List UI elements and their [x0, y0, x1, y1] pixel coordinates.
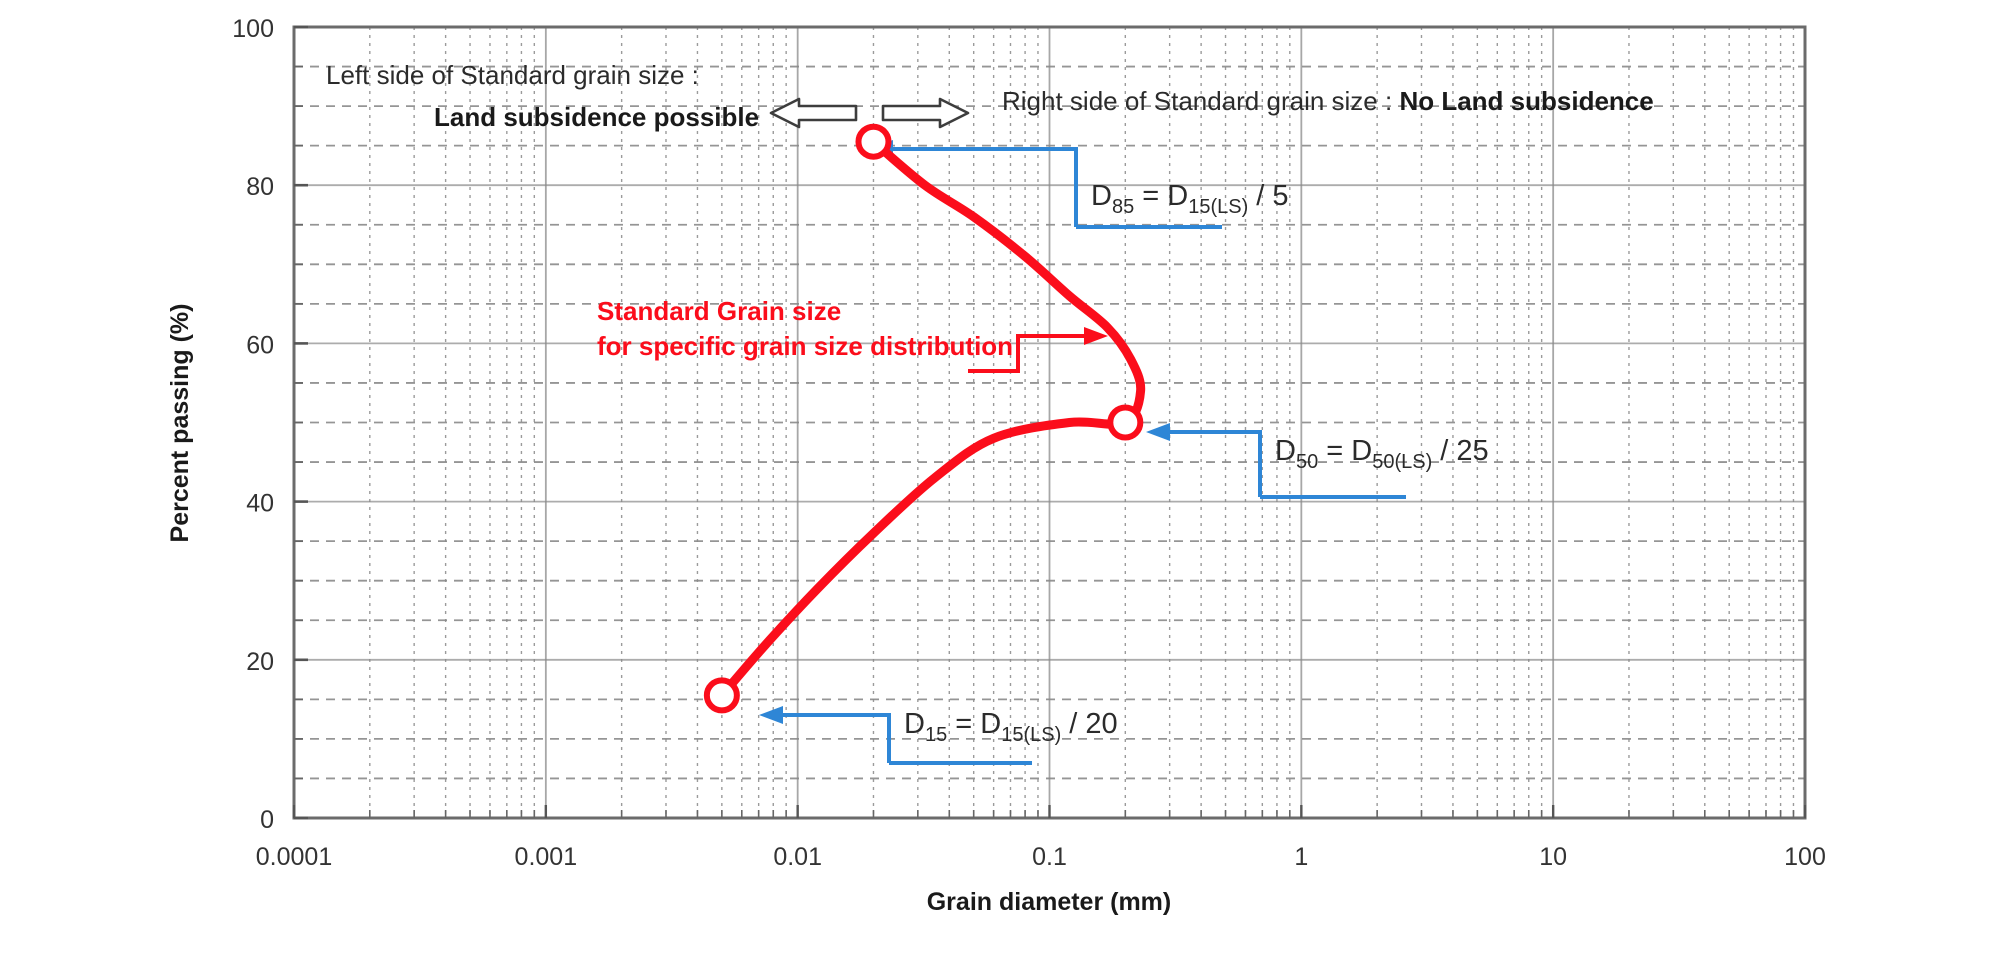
d85-rhs-sub: 15(LS)	[1188, 196, 1248, 218]
right-side-note-prefix: Right side of Standard grain size :	[1002, 86, 1399, 116]
d15-divisor: / 20	[1061, 708, 1117, 740]
y-tick-label: 20	[246, 648, 274, 676]
y-axis-label: Percent passing (%)	[166, 304, 194, 543]
y-tick-label: 0	[260, 806, 274, 834]
marker-d85	[858, 127, 888, 157]
d85-lhs-sub: 85	[1112, 196, 1134, 218]
y-tick-label: 40	[246, 490, 274, 518]
d50-divisor: / 25	[1432, 435, 1488, 467]
left-side-note-line2: Land subsidence possible	[434, 102, 759, 132]
d85-rhs: D	[1167, 180, 1188, 212]
x-tick-label: 10	[1539, 843, 1567, 871]
grain-size-distribution-chart: 0.00010.0010.010.1110100 020406080100 Gr…	[0, 0, 2008, 953]
d85-eq: =	[1134, 180, 1167, 212]
standard-grain-note-line2: for specific grain size distribution	[597, 331, 1013, 361]
d15-lhs-sub: 15	[925, 724, 947, 746]
d15-eq: =	[947, 708, 980, 740]
d85-divisor: / 5	[1248, 180, 1288, 212]
x-tick-label: 100	[1784, 843, 1826, 871]
marker-d15	[707, 680, 737, 710]
x-tick-label: 0.0001	[256, 843, 332, 871]
x-tick-label: 1	[1294, 843, 1308, 871]
right-side-note: Right side of Standard grain size : No L…	[1002, 86, 1654, 116]
d50-rhs: D	[1351, 435, 1372, 467]
d50-lhs: D	[1275, 435, 1296, 467]
y-tick-label: 60	[246, 331, 274, 359]
right-side-note-bold: No Land subsidence	[1399, 86, 1653, 116]
x-tick-label: 0.1	[1032, 843, 1067, 871]
d50-eq: =	[1318, 435, 1351, 467]
marker-d50	[1110, 408, 1140, 438]
x-axis-label: Grain diameter (mm)	[927, 888, 1172, 916]
x-tick-label: 0.01	[773, 843, 822, 871]
d15-rhs: D	[980, 708, 1001, 740]
standard-grain-note-line1: Standard Grain size	[597, 296, 841, 326]
d15-rhs-sub: 15(LS)	[1001, 724, 1061, 746]
d85-lhs: D	[1091, 180, 1112, 212]
y-tick-label: 80	[246, 173, 274, 201]
d15-lhs: D	[904, 708, 925, 740]
d50-lhs-sub: 50	[1296, 451, 1318, 473]
y-tick-label: 100	[232, 15, 274, 43]
x-tick-label: 0.001	[515, 843, 578, 871]
d50-rhs-sub: 50(LS)	[1372, 451, 1432, 473]
chart-background	[0, 0, 2008, 953]
chart-canvas: 0.00010.0010.010.1110100 020406080100 Gr…	[0, 0, 2008, 953]
left-side-note-line1: Left side of Standard grain size :	[326, 60, 699, 90]
